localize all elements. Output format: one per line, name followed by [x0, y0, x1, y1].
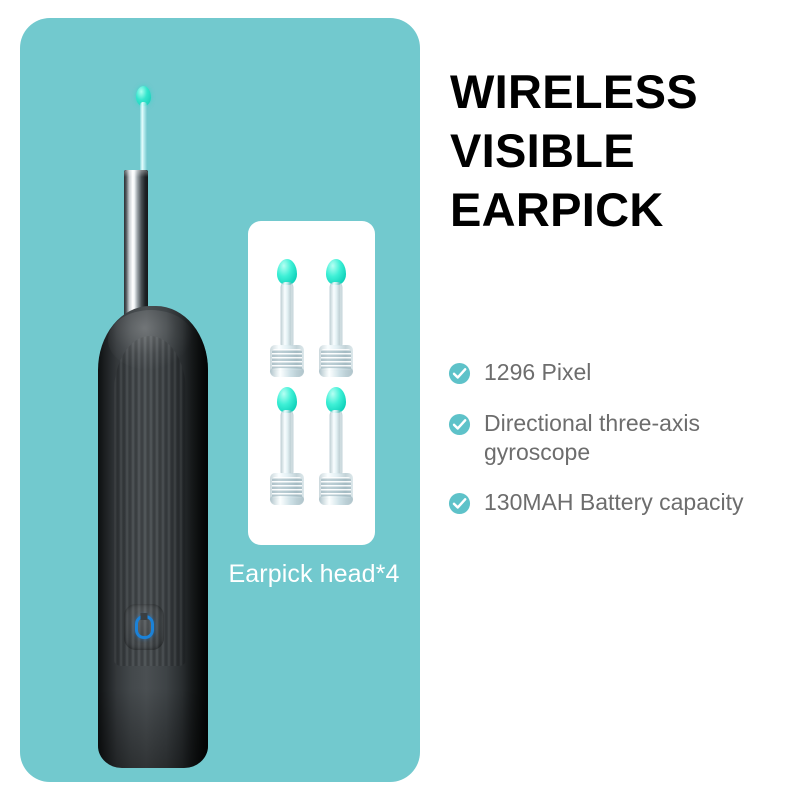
earpick-head-item — [316, 387, 356, 505]
earpick-head-item — [267, 259, 307, 377]
earpick-head-collar — [270, 345, 304, 377]
headline-line-3: EARPICK — [450, 180, 780, 239]
feature-label: 1296 Pixel — [484, 358, 591, 387]
earpick-head-collar — [319, 473, 353, 505]
chrome-shaft-icon — [124, 170, 148, 318]
translucent-stem — [140, 102, 147, 174]
accessory-card — [248, 221, 375, 545]
feature-list: 1296 Pixel Directional three-axis gyrosc… — [448, 358, 788, 539]
handle-grip-icon — [98, 306, 208, 768]
earpick-device-illustration — [98, 78, 208, 768]
check-circle-icon — [448, 413, 471, 436]
power-symbol-glyph — [135, 615, 154, 639]
accessory-card-caption: Earpick head*4 — [204, 560, 424, 589]
earpick-head-item — [267, 387, 307, 505]
earpick-head-stem — [330, 410, 343, 474]
feature-item: 130MAH Battery capacity — [448, 488, 788, 517]
headline-line-2: VISIBLE — [450, 121, 780, 180]
earpick-head-stem — [280, 410, 293, 474]
earpick-head-stem — [330, 282, 343, 346]
handle-bottom-shading — [98, 688, 208, 768]
check-circle-icon — [448, 492, 471, 515]
info-column: WIRELESS VISIBLE EARPICK — [450, 62, 780, 240]
product-marketing-canvas: Earpick head*4 WIRELESS VISIBLE EARPICK … — [0, 0, 800, 800]
feature-item: 1296 Pixel — [448, 358, 788, 387]
earpick-head-collar — [319, 345, 353, 377]
earpick-head-collar — [270, 473, 304, 505]
feature-label: 130MAH Battery capacity — [484, 488, 744, 517]
feature-label: Directional three-axis gyroscope — [484, 409, 788, 467]
page-title: WIRELESS VISIBLE EARPICK — [450, 62, 780, 240]
product-image-panel: Earpick head*4 — [20, 18, 420, 782]
earpick-head-stem — [280, 282, 293, 346]
check-circle-icon — [448, 362, 471, 385]
feature-item: Directional three-axis gyroscope — [448, 409, 788, 467]
earpick-heads-grid — [248, 221, 375, 545]
power-button-icon[interactable] — [124, 604, 164, 650]
earpick-head-item — [316, 259, 356, 377]
headline-line-1: WIRELESS — [450, 62, 780, 121]
